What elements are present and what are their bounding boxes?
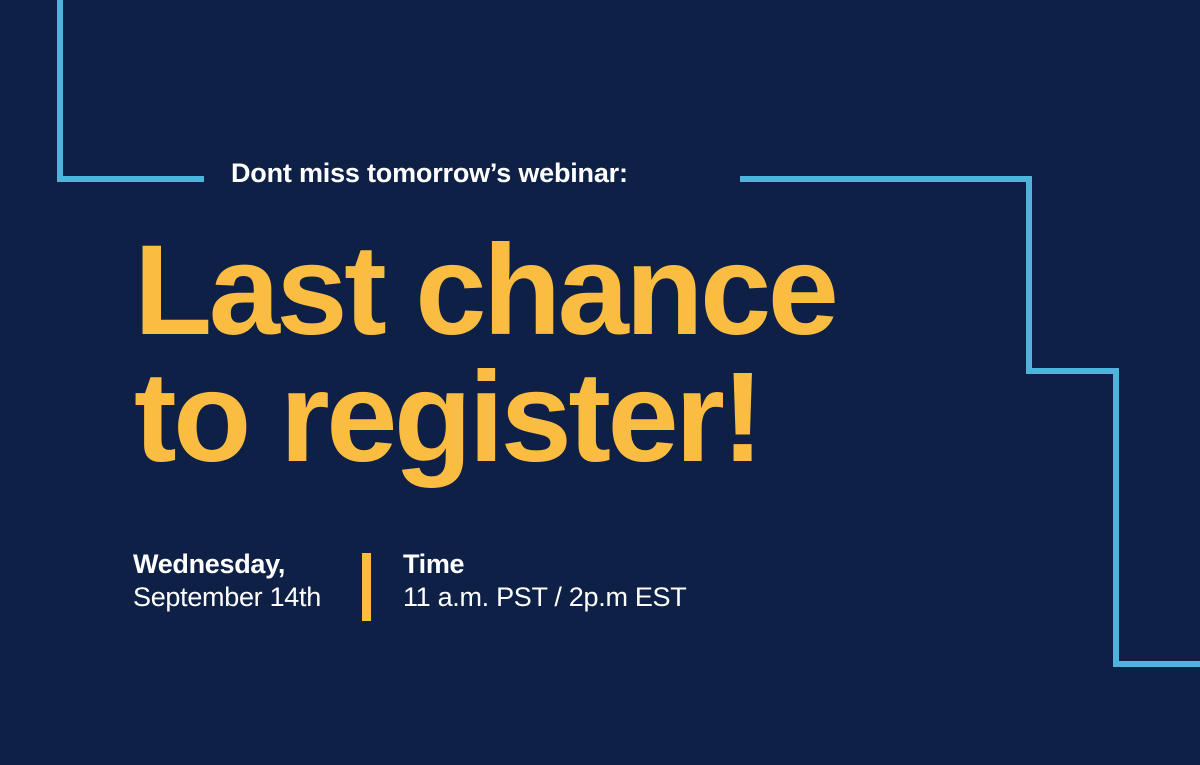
headline-line-2: to register! — [134, 355, 835, 482]
headline-line-1: Last chance — [134, 228, 835, 355]
webinar-promo-banner: Dont miss tomorrow’s webinar: Last chanc… — [0, 0, 1200, 765]
kicker-text: Dont miss tomorrow’s webinar: — [231, 158, 628, 189]
decorative-line-right-horizontal-bottom — [1113, 661, 1200, 667]
event-time-title: Time — [403, 548, 687, 581]
event-date-block: Wednesday, September 14th — [133, 548, 321, 614]
decorative-line-right-vertical-lower — [1113, 368, 1119, 667]
headline: Last chance to register! — [134, 228, 835, 481]
decorative-line-right-vertical-upper — [1026, 176, 1032, 374]
event-date-subtitle: September 14th — [133, 581, 321, 614]
event-time-subtitle: 11 a.m. PST / 2p.m EST — [403, 581, 687, 614]
decorative-line-right-horizontal-middle — [1026, 368, 1119, 374]
decorative-line-right-horizontal-top — [740, 176, 1032, 182]
decorative-line-top-left-vertical — [57, 0, 63, 182]
event-details: Wednesday, September 14th Time 11 a.m. P… — [133, 548, 686, 621]
event-time-block: Time 11 a.m. PST / 2p.m EST — [403, 548, 687, 614]
event-date-title: Wednesday, — [133, 548, 321, 581]
detail-divider-bar — [362, 553, 371, 621]
decorative-line-top-left-horizontal — [57, 176, 204, 182]
